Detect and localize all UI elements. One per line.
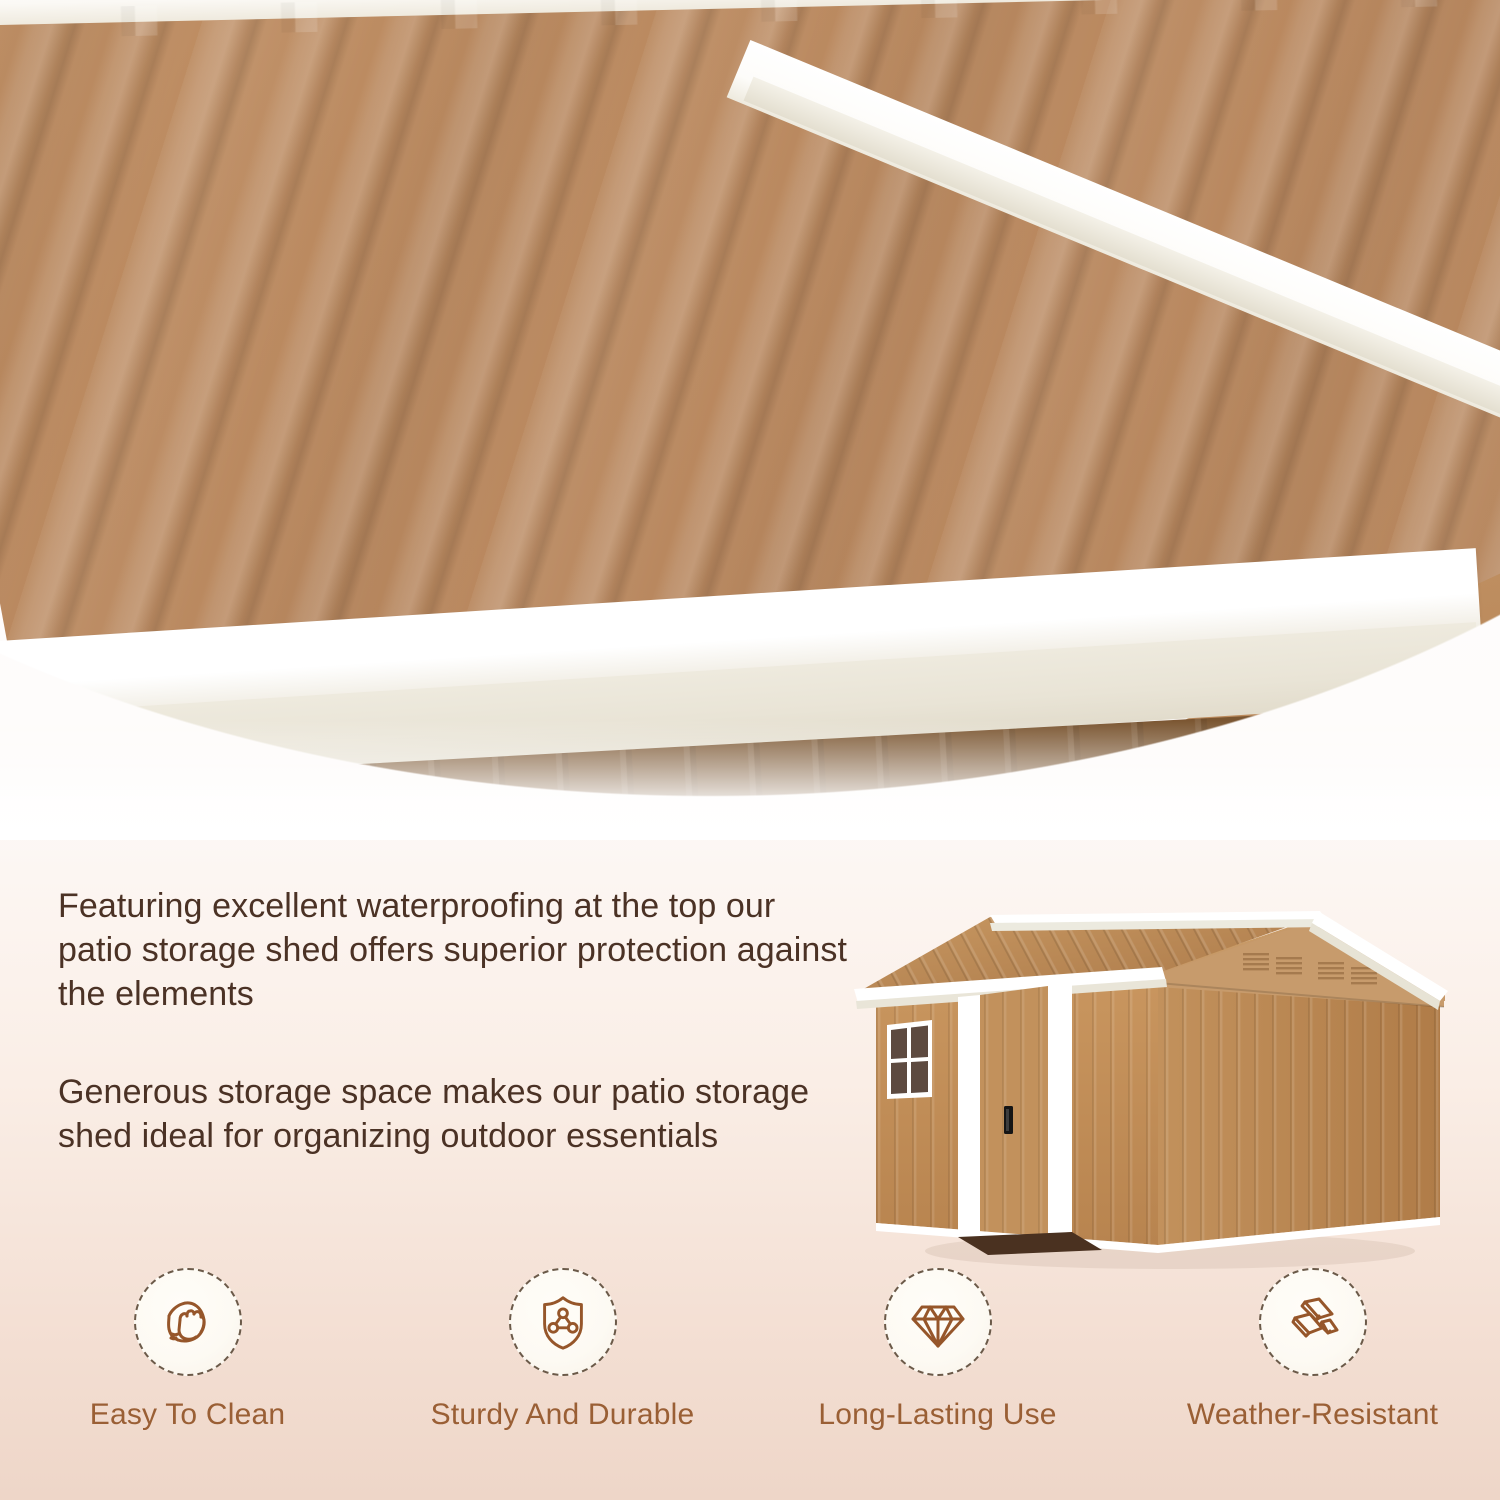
shed-side-wall-ribs — [1158, 973, 1440, 1245]
marketing-copy: Featuring excellent waterproofing at the… — [58, 884, 848, 1158]
shed-door-ribs — [980, 986, 1048, 1237]
feature-label: Easy To Clean — [90, 1398, 286, 1432]
shed-door-trim-right — [1048, 983, 1072, 1234]
copy-paragraph-2: Generous storage space makes our patio s… — [58, 1070, 848, 1158]
copy-paragraph-1: Featuring excellent waterproofing at the… — [58, 884, 848, 1016]
hero-roof-photo — [0, 0, 1500, 840]
shield-badge — [509, 1268, 617, 1376]
wiping-hand-icon — [156, 1290, 220, 1354]
feature-weather-resistant: Weather-Resistant — [1125, 1268, 1500, 1458]
shield-icon — [532, 1291, 594, 1353]
feature-label: Weather-Resistant — [1187, 1398, 1438, 1432]
product-shed-image — [840, 845, 1460, 1275]
shed-illustration — [840, 845, 1460, 1275]
feature-label: Long-Lasting Use — [818, 1398, 1056, 1432]
diamond-badge — [884, 1268, 992, 1376]
feature-long-lasting-use: Long-Lasting Use — [750, 1268, 1125, 1458]
hero-clip — [0, 0, 1500, 820]
shed-door-trim-left — [958, 995, 980, 1237]
wiping-hand-badge — [134, 1268, 242, 1376]
feature-badges: Easy To Clean Sturdy And Durable — [0, 1268, 1500, 1458]
metal-ingots-icon — [1281, 1290, 1345, 1354]
feature-easy-to-clean: Easy To Clean — [0, 1268, 375, 1458]
product-feature-page: Featuring excellent waterproofing at the… — [0, 0, 1500, 1500]
feature-label: Sturdy And Durable — [431, 1398, 695, 1432]
diamond-icon — [906, 1290, 970, 1354]
feature-sturdy-and-durable: Sturdy And Durable — [375, 1268, 750, 1458]
metal-ingots-badge — [1259, 1268, 1367, 1376]
